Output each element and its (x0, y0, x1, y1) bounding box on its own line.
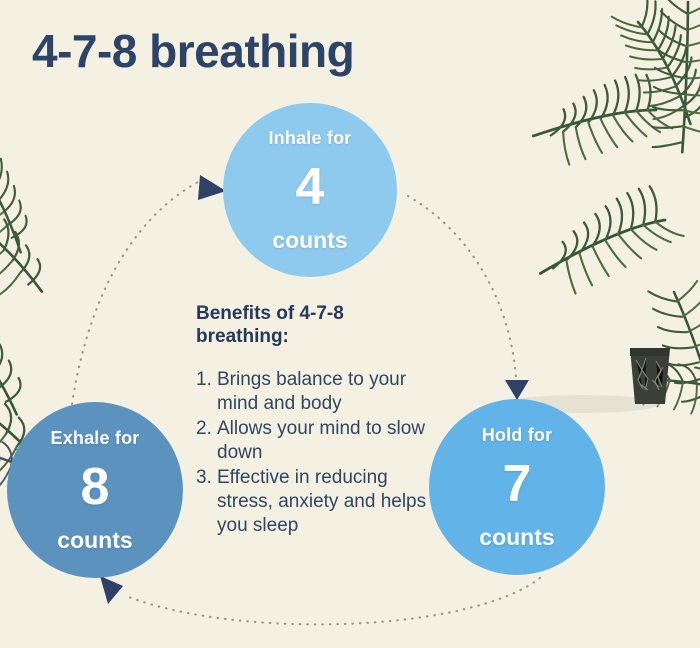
infographic-canvas: 4-7-8 breathing Inhale for 4 counts Hold… (0, 0, 700, 648)
list-item-text: Allows your mind to slow down (217, 417, 441, 465)
list-item-number: 1. (196, 368, 217, 416)
cycle-step-inhale[interactable]: Inhale for 4 counts (223, 103, 397, 277)
cycle-step-hold[interactable]: Hold for 7 counts (429, 399, 605, 575)
list-item: 2. Allows your mind to slow down (196, 417, 441, 465)
cycle-step-exhale-unit: counts (57, 529, 132, 552)
cycle-step-exhale-label: Exhale for (50, 429, 139, 447)
list-item: 1. Brings balance to your mind and body (196, 368, 441, 416)
cycle-step-exhale[interactable]: Exhale for 8 counts (7, 402, 183, 578)
cycle-step-inhale-label: Inhale for (268, 129, 351, 147)
arrow-path-hold-to-exhale (126, 578, 540, 624)
list-item-number: 3. (196, 466, 217, 538)
arrowhead-to-inhale (198, 175, 226, 200)
arrowhead-to-hold (505, 380, 529, 400)
benefits-list: 1. Brings balance to your mind and body … (196, 368, 441, 538)
palm-fronds-left-top-icon (0, 150, 150, 320)
cycle-step-inhale-unit: counts (272, 229, 347, 252)
cycle-step-inhale-count: 4 (296, 161, 325, 213)
list-item-text: Brings balance to your mind and body (217, 368, 441, 416)
benefits-heading: Benefits of 4-7-8 breathing: (196, 302, 441, 348)
list-item-text: Effective in reducing stress, anxiety an… (217, 466, 441, 538)
cycle-step-hold-count: 7 (503, 458, 532, 510)
cycle-step-hold-label: Hold for (482, 426, 553, 444)
page-title: 4-7-8 breathing (32, 24, 354, 78)
palm-fronds-right-icon (460, 0, 700, 462)
cycle-step-exhale-count: 8 (81, 461, 110, 513)
list-item: 3. Effective in reducing stress, anxiety… (196, 466, 441, 538)
cycle-step-hold-unit: counts (479, 526, 554, 549)
benefits-block: Benefits of 4-7-8 breathing: 1. Brings b… (196, 302, 441, 539)
arrow-path-exhale-to-inhale (72, 182, 198, 404)
arrowhead-to-exhale (100, 576, 123, 604)
list-item-number: 2. (196, 417, 217, 465)
